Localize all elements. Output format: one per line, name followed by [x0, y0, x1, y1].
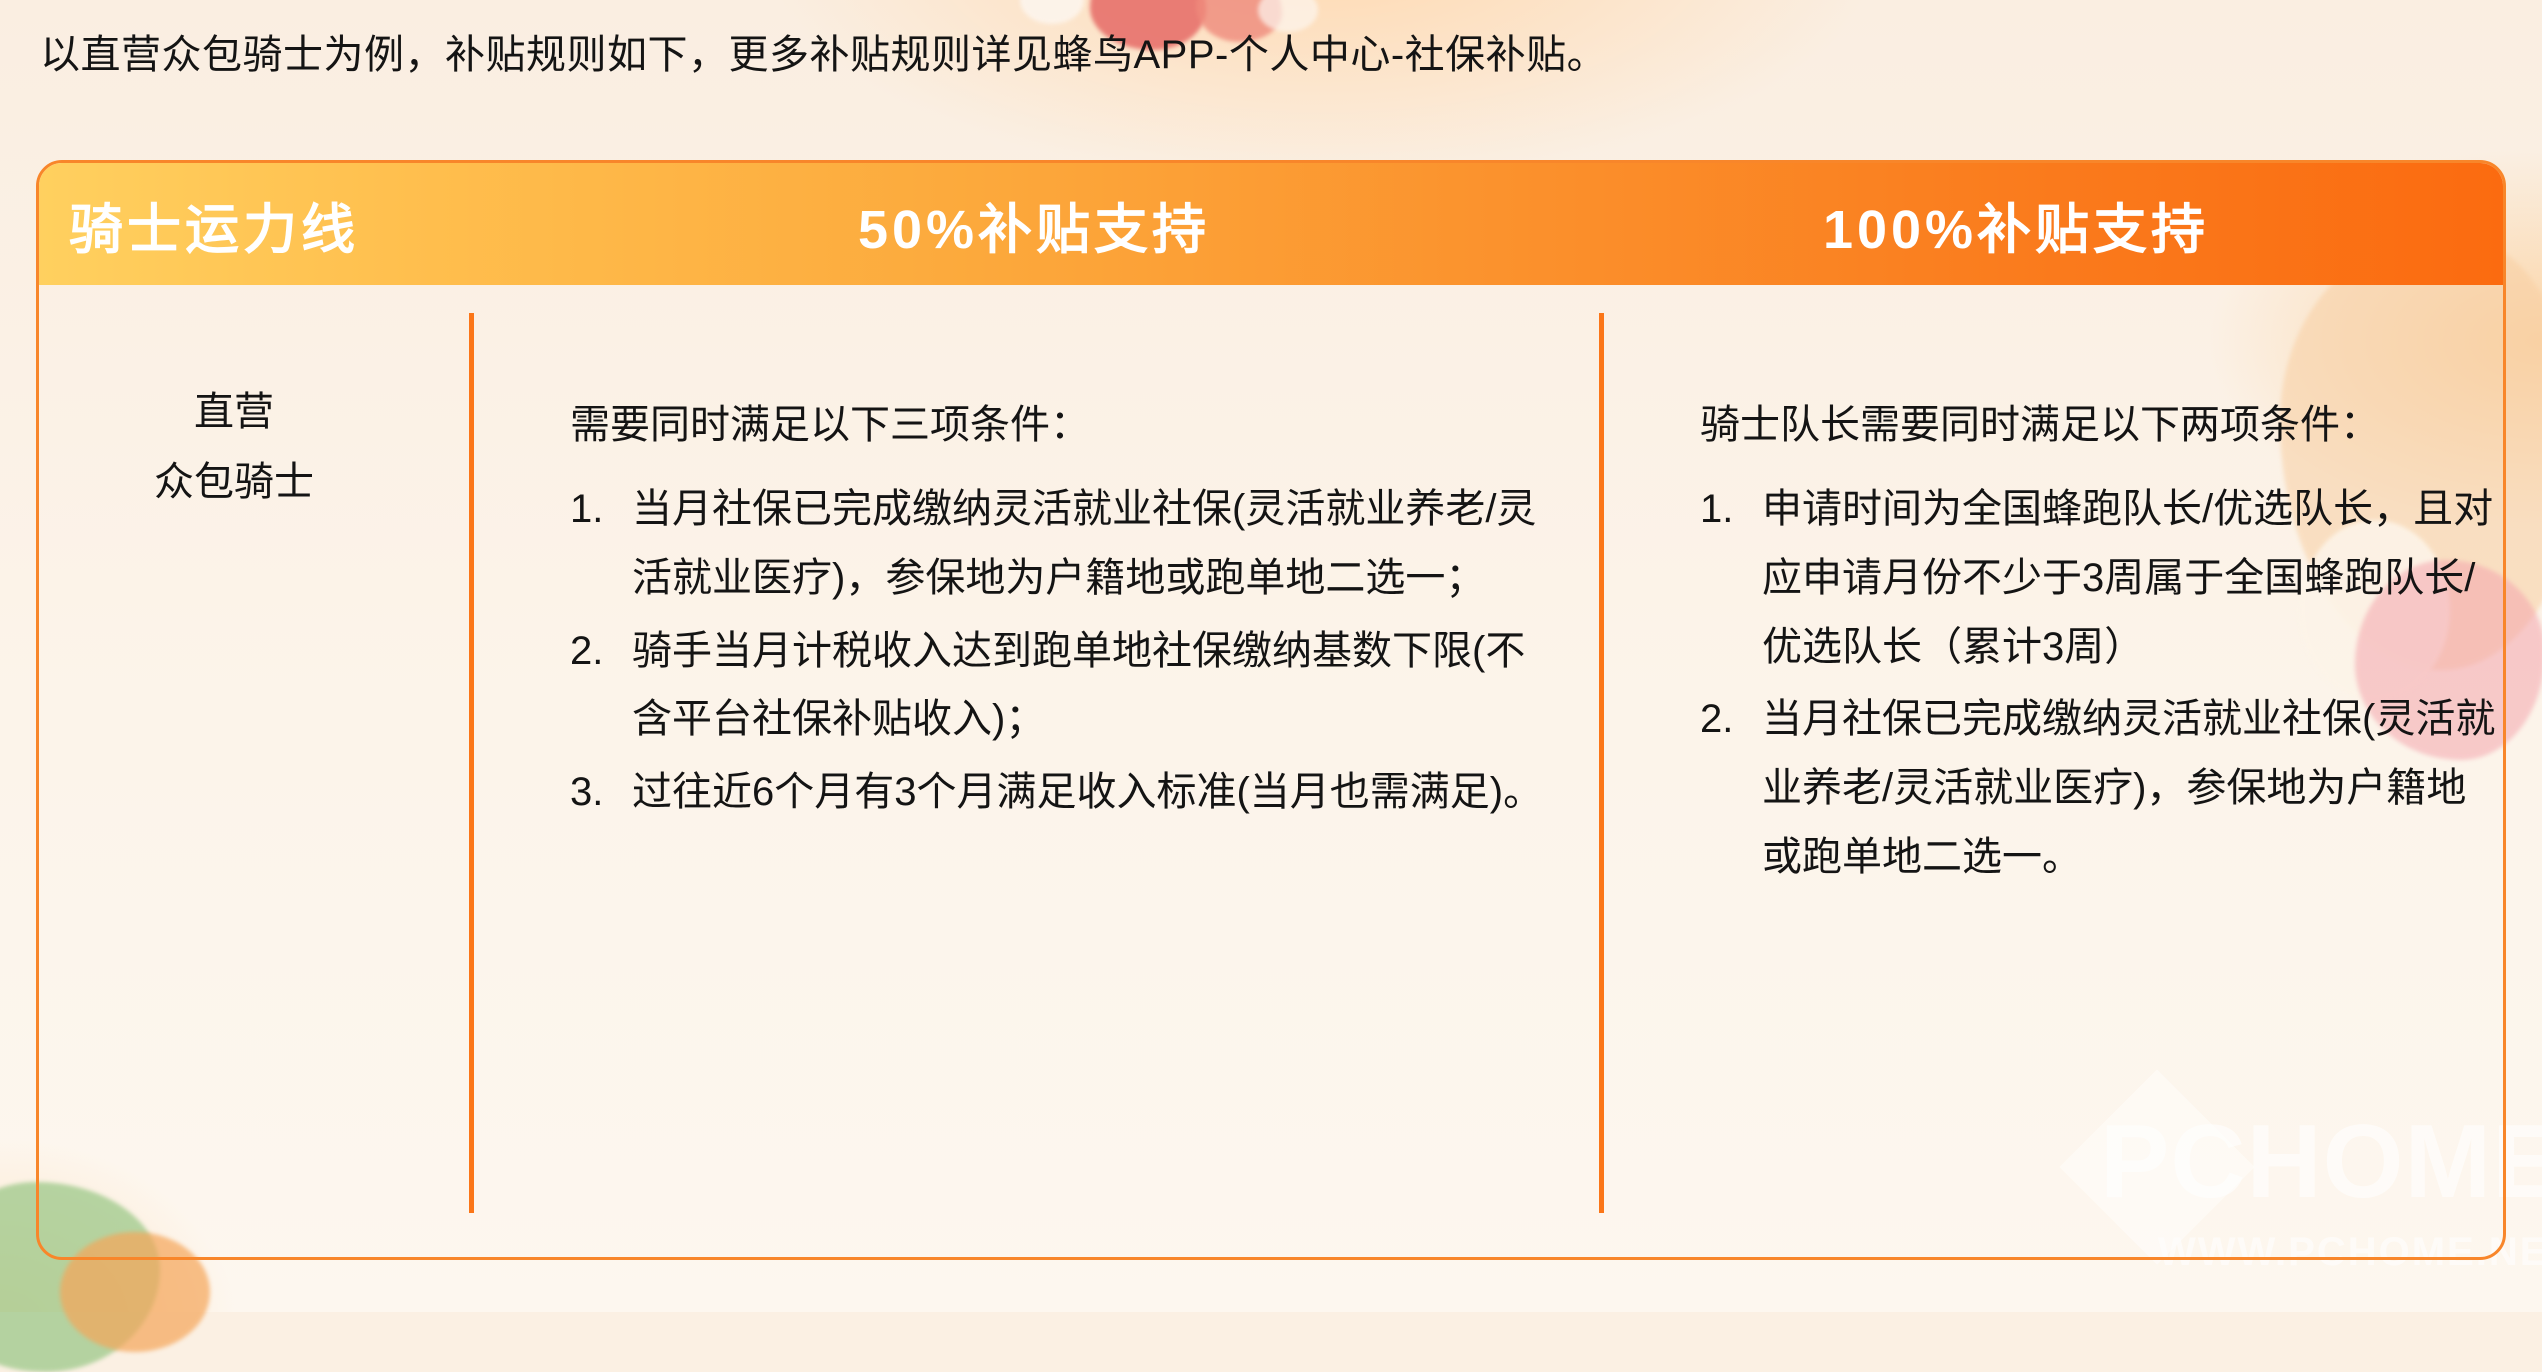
table-header-lineage: 骑士运力线	[39, 185, 469, 264]
list-item: 申请时间为全国蜂跑队长/优选队长，且对应申请月份不少于3周属于全国蜂跑队长/优选…	[1700, 475, 2503, 681]
list-item: 过往近6个月有3个月满足收入标准(当月也需满足)。	[570, 758, 1552, 827]
table-header-subsidy-50: 50%补贴支持	[469, 185, 1599, 264]
list-item: 当月社保已完成缴纳灵活就业社保(灵活就业养老/灵活就业医疗)，参保地为户籍地或跑…	[1700, 685, 2503, 891]
table-header-row: 骑士运力线 50%补贴支持 100%补贴支持	[39, 163, 2503, 285]
table-row: 直营 众包骑士 需要同时满足以下三项条件： 当月社保已完成缴纳灵活就业社保(灵活…	[39, 285, 2503, 1257]
list-item: 骑手当月计税收入达到跑单地社保缴纳基数下限(不含平台社保补贴收入)；	[570, 617, 1552, 755]
table-cell-lineage: 直营 众包骑士	[39, 285, 469, 1257]
lineage-line-1: 直营	[39, 377, 469, 447]
subsidy-rules-table: 骑士运力线 50%补贴支持 100%补贴支持 直营 众包骑士 需要同时满足以下三…	[36, 160, 2506, 1260]
table-cell-subsidy-100: 骑士队长需要同时满足以下两项条件： 申请时间为全国蜂跑队长/优选队长，且对应申请…	[1599, 313, 2503, 1213]
list-item: 当月社保已完成缴纳灵活就业社保(灵活就业养老/灵活就业医疗)，参保地为户籍地或跑…	[570, 475, 1552, 613]
table-header-subsidy-100: 100%补贴支持	[1599, 185, 2503, 264]
lineage-line-2: 众包骑士	[39, 447, 469, 517]
conditions-list-50: 当月社保已完成缴纳灵活就业社保(灵活就业养老/灵活就业医疗)，参保地为户籍地或跑…	[570, 475, 1599, 827]
intro-text: 以直营众包骑士为例，补贴规则如下，更多补贴规则详见蜂鸟APP-个人中心-社保补贴…	[40, 22, 1607, 80]
table-cell-subsidy-50: 需要同时满足以下三项条件： 当月社保已完成缴纳灵活就业社保(灵活就业养老/灵活就…	[469, 313, 1599, 1213]
conditions-list-100: 申请时间为全国蜂跑队长/优选队长，且对应申请月份不少于3周属于全国蜂跑队长/优选…	[1700, 475, 2503, 892]
conditions-title-100: 骑士队长需要同时满足以下两项条件：	[1700, 401, 2503, 449]
conditions-title-50: 需要同时满足以下三项条件：	[570, 401, 1599, 449]
